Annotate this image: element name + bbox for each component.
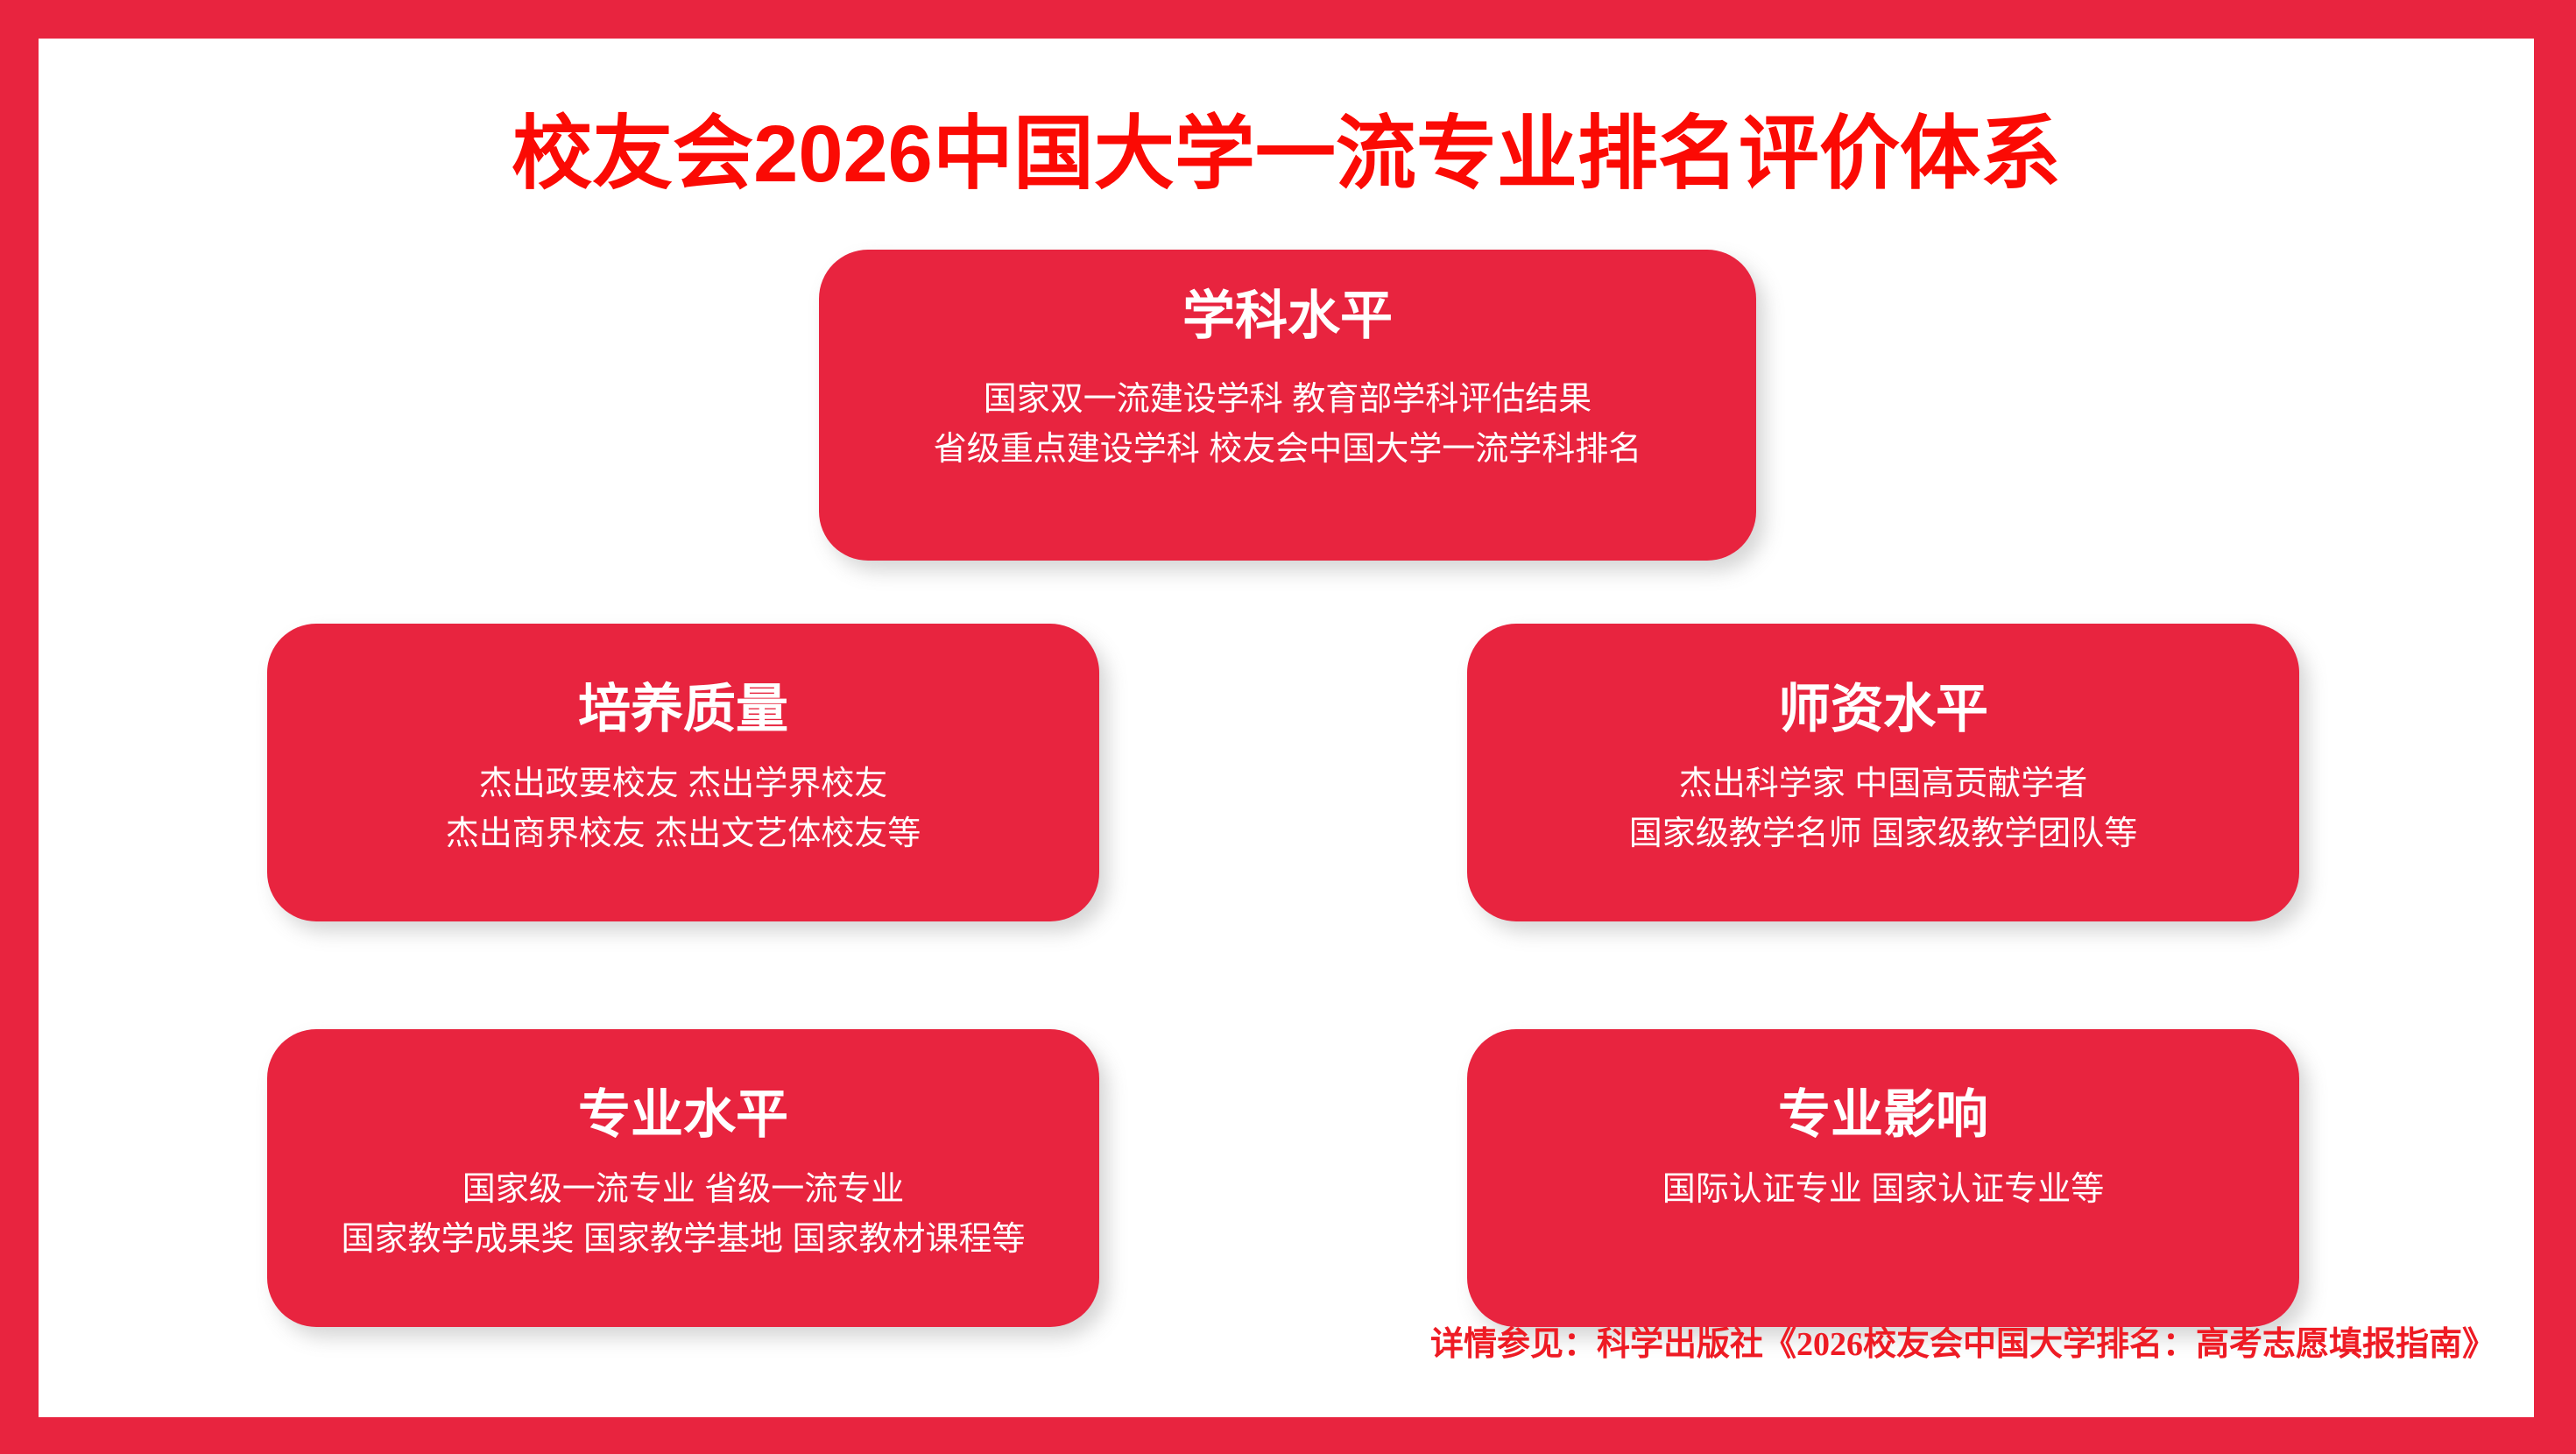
card-faculty-title: 师资水平 [1778, 681, 1988, 737]
card-faculty-line-2: 国家级教学名师 国家级教学团队等 [1629, 809, 2138, 859]
card-faculty-lines: 杰出科学家 中国高贡献学者 国家级教学名师 国家级教学团队等 [1629, 759, 2138, 859]
card-major-level-title: 专业水平 [578, 1087, 788, 1142]
card-major-impact: 专业影响 国际认证专业 国家认证专业等 [1467, 1029, 2299, 1327]
card-major-impact-title: 专业影响 [1778, 1087, 1988, 1142]
poster-frame: 校友会2026中国大学一流专业排名评价体系 学科水平 国家双一流建设学科 教育部… [0, 0, 2576, 1454]
card-discipline-line-1: 国家双一流建设学科 教育部学科评估结果 [984, 375, 1592, 425]
card-major-level-line-2: 国家教学成果奖 国家教学基地 国家教材课程等 [341, 1215, 1025, 1265]
card-major-level-line-1: 国家级一流专业 省级一流专业 [462, 1165, 905, 1215]
card-major-impact-line-1: 国际认证专业 国家认证专业等 [1662, 1165, 2105, 1215]
card-cultivation-lines: 杰出政要校友 杰出学界校友 杰出商界校友 杰出文艺体校友等 [446, 759, 921, 859]
card-discipline: 学科水平 国家双一流建设学科 教育部学科评估结果 省级重点建设学科 校友会中国大… [819, 250, 1756, 561]
card-major-impact-lines: 国际认证专业 国家认证专业等 [1662, 1165, 2105, 1215]
card-cultivation-line-2: 杰出商界校友 杰出文艺体校友等 [446, 809, 921, 859]
card-cultivation-line-1: 杰出政要校友 杰出学界校友 [479, 759, 888, 809]
card-faculty: 师资水平 杰出科学家 中国高贡献学者 国家级教学名师 国家级教学团队等 [1467, 624, 2299, 921]
card-discipline-lines: 国家双一流建设学科 教育部学科评估结果 省级重点建设学科 校友会中国大学一流学科… [934, 375, 1642, 475]
card-cultivation-title: 培养质量 [578, 681, 788, 737]
card-major-level-lines: 国家级一流专业 省级一流专业 国家教学成果奖 国家教学基地 国家教材课程等 [341, 1165, 1025, 1265]
card-cultivation: 培养质量 杰出政要校友 杰出学界校友 杰出商界校友 杰出文艺体校友等 [267, 624, 1099, 921]
poster-canvas: 校友会2026中国大学一流专业排名评价体系 学科水平 国家双一流建设学科 教育部… [39, 39, 2534, 1417]
card-discipline-line-2: 省级重点建设学科 校友会中国大学一流学科排名 [934, 425, 1642, 475]
card-faculty-line-1: 杰出科学家 中国高贡献学者 [1679, 759, 2088, 809]
footer-source-note: 详情参见：科学出版社《2026校友会中国大学排名：高考志愿填报指南》 [1430, 1316, 2495, 1365]
page-title: 校友会2026中国大学一流专业排名评价体系 [39, 114, 2534, 194]
card-discipline-title: 学科水平 [1182, 288, 1393, 343]
card-major-level: 专业水平 国家级一流专业 省级一流专业 国家教学成果奖 国家教学基地 国家教材课… [267, 1029, 1099, 1327]
